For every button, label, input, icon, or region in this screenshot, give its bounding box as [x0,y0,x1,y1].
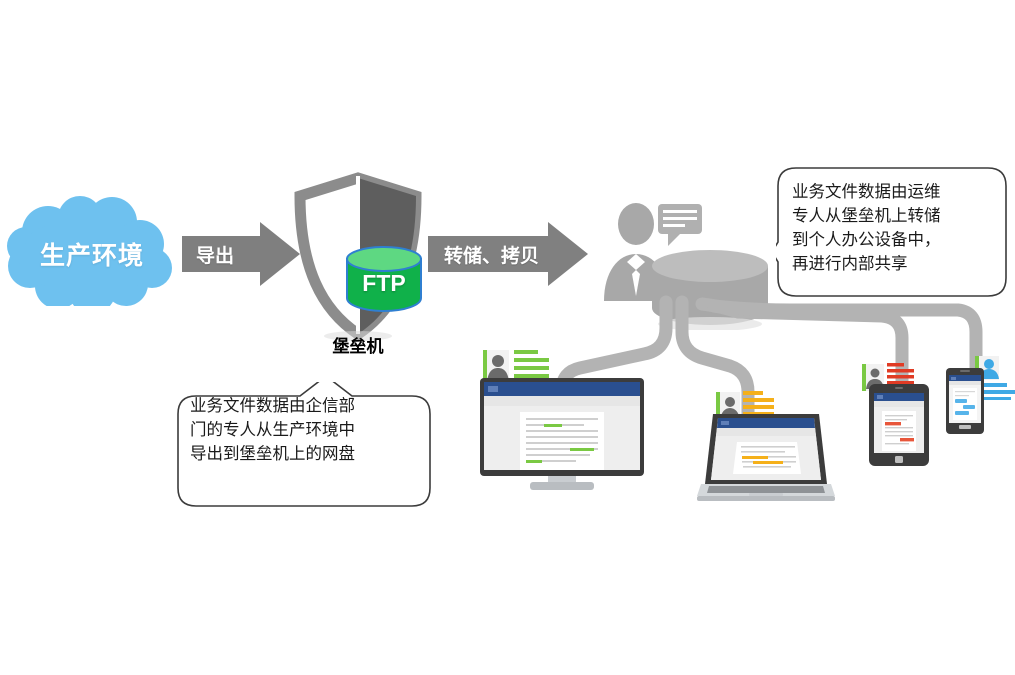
bastion-host-label: 堡垒机 [288,332,428,357]
arrow-dump-copy: 转储、拷贝 [428,222,588,286]
desktop-monitor [478,378,646,496]
laptop [697,414,835,504]
smartphone [946,368,984,434]
tablet [869,384,929,466]
arrow-export-label: 导出 [182,222,300,286]
arrow-dump-copy-label: 转储、拷贝 [428,222,588,286]
callout-export-to-bastion-text: 业务文件数据由企信部 门的专人从生产环境中 导出到堡垒机上的网盘 [190,394,420,466]
production-environment-label: 生产环境 [6,196,178,306]
production-environment-cloud: 生产环境 [6,196,178,306]
arrow-export: 导出 [182,222,300,286]
callout-dump-to-personal-device-text: 业务文件数据由运维 专人从堡垒机上转储 到个人办公设备中， 再进行内部共享 [792,180,998,276]
diagram-canvas: 生产环境 导出 [0,0,1015,675]
ftp-storage-label: FTP [344,246,424,314]
